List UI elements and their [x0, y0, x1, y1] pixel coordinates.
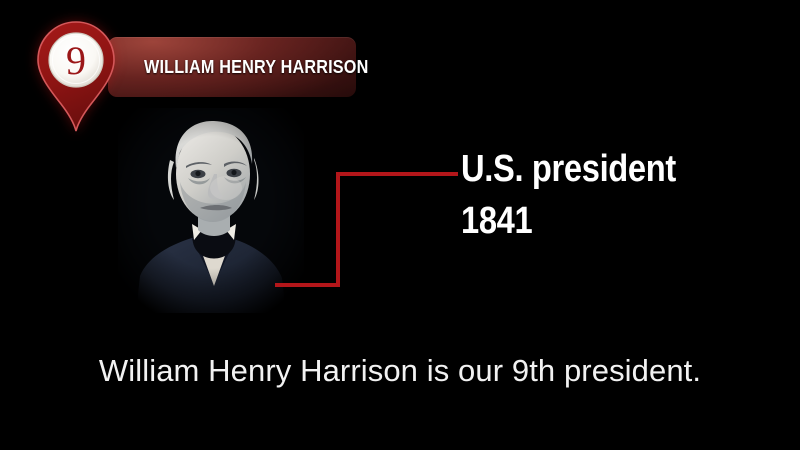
callout-line-role: U.S. president — [461, 143, 736, 195]
callout-line-year: 1841 — [461, 195, 736, 247]
caption-text: William Henry Harrison is our 9th presid… — [0, 353, 800, 389]
callout-text-block: U.S. president 1841 — [461, 143, 781, 247]
video-frame: U.S. president 1841 WILLIAM HENRY HARRIS… — [0, 0, 800, 450]
portrait-image — [118, 108, 304, 313]
pin-number-label: 9 — [36, 39, 116, 83]
president-number-pin: 9 — [36, 20, 116, 133]
portrait-illustration — [118, 108, 304, 313]
president-name-label: WILLIAM HENRY HARRISON — [144, 57, 368, 78]
title-banner: WILLIAM HENRY HARRISON — [108, 37, 356, 97]
